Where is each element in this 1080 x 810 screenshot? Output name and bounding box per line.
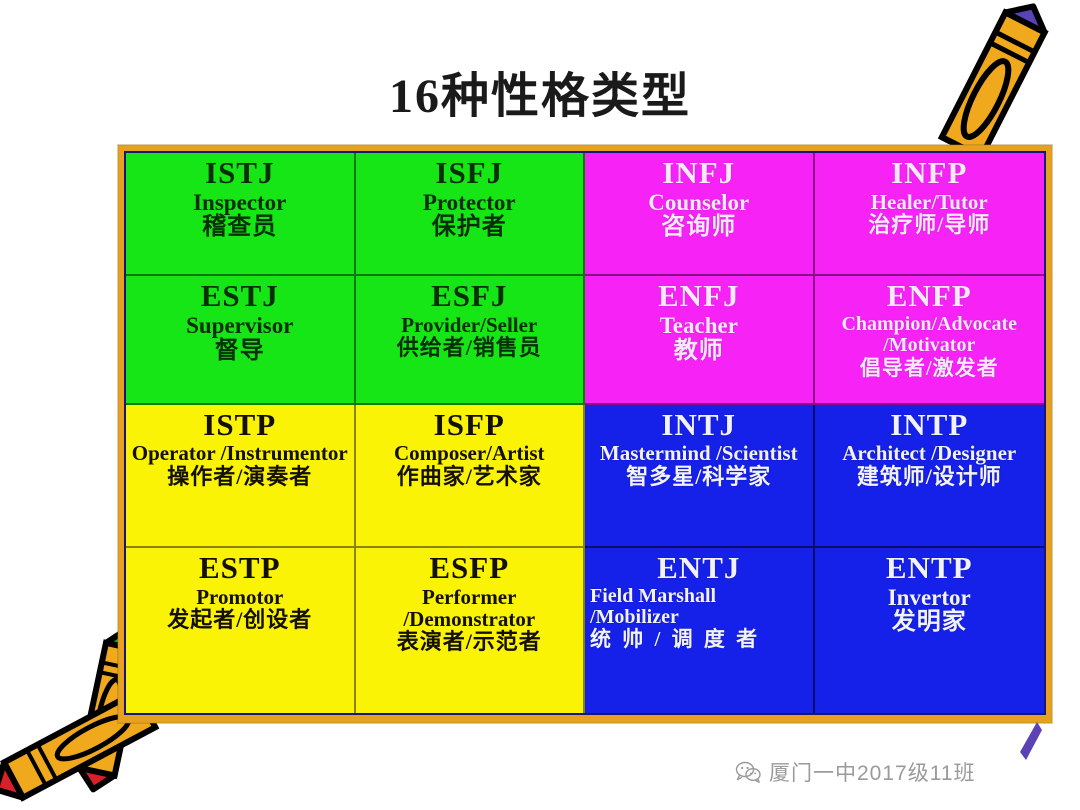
poster-canvas: 16种性格类型 xyxy=(0,0,1080,810)
type-name-en: Field Marshall /Mobilizer xyxy=(590,586,808,628)
type-code: ISFJ xyxy=(435,157,503,190)
type-name-en: Architect /Designer xyxy=(842,442,1016,464)
table-cell-istp[interactable]: ISTP Operator /Instrumentor 操作者/演奏者 xyxy=(126,405,356,548)
type-name-zh: 督导 xyxy=(215,339,265,364)
type-name-zh: 倡导者/激发者 xyxy=(860,357,999,379)
table-cell-estp[interactable]: ESTP Promotor 发起者/创设者 xyxy=(126,548,356,713)
personality-type-table-frame: ISTJ Inspector 稽查员 ISFJ Protector 保护者 IN… xyxy=(118,145,1052,723)
type-code: ENFP xyxy=(887,280,972,313)
type-code: ISTJ xyxy=(205,157,274,190)
type-code: INTJ xyxy=(661,409,736,442)
table-cell-esfj[interactable]: ESFJ Provider/Seller 供给者/销售员 xyxy=(356,276,586,404)
type-name-en: Champion/Advocate /Motivator xyxy=(820,314,1040,356)
type-name-zh: 智多星/科学家 xyxy=(626,465,771,488)
type-code: ENFJ xyxy=(658,280,740,313)
wechat-icon xyxy=(735,761,761,783)
type-code: ESFP xyxy=(429,552,509,585)
footer-text: 厦门一中2017级11班 xyxy=(769,757,976,787)
table-cell-isfp[interactable]: ISFP Composer/Artist 作曲家/艺术家 xyxy=(356,405,586,548)
type-code: ENTJ xyxy=(590,552,808,585)
table-cell-intj[interactable]: INTJ Mastermind /Scientist 智多星/科学家 xyxy=(585,405,815,548)
type-code: INFP xyxy=(891,157,967,190)
table-cell-entj[interactable]: ENTJ Field Marshall /Mobilizer 统 帅 / 调 度… xyxy=(585,548,815,713)
type-name-en: Mastermind /Scientist xyxy=(600,442,798,464)
table-cell-estj[interactable]: ESTJ Supervisor 督导 xyxy=(126,276,356,404)
type-name-en: Operator /Instrumentor xyxy=(132,442,348,464)
type-name-zh: 作曲家/艺术家 xyxy=(397,465,542,488)
type-name-zh: 咨询师 xyxy=(661,215,736,240)
footer-watermark: 厦门一中2017级11班 xyxy=(735,757,976,787)
table-cell-esfp[interactable]: ESFP Performer /Demonstrator 表演者/示范者 xyxy=(356,548,586,713)
table-cell-intp[interactable]: INTP Architect /Designer 建筑师/设计师 xyxy=(815,405,1045,548)
type-name-en: Protector xyxy=(423,191,516,215)
type-name-zh: 保护者 xyxy=(432,215,507,240)
type-name-en: Provider/Seller xyxy=(401,314,537,336)
personality-type-grid: ISTJ Inspector 稽查员 ISFJ Protector 保护者 IN… xyxy=(126,153,1044,713)
type-name-en: Performer /Demonstrator xyxy=(361,586,579,631)
type-code: ESTP xyxy=(199,552,281,585)
type-name-zh: 稽查员 xyxy=(202,215,277,240)
purple-ribbon-accent-icon xyxy=(1020,722,1042,762)
type-name-en: Teacher xyxy=(660,314,738,338)
table-cell-istj[interactable]: ISTJ Inspector 稽查员 xyxy=(126,153,356,276)
type-name-en: Supervisor xyxy=(186,314,293,338)
type-name-en: Healer/Tutor xyxy=(871,191,988,213)
type-code: ISTP xyxy=(203,409,276,442)
type-name-zh: 发起者/创设者 xyxy=(167,608,312,631)
type-code: ISFP xyxy=(434,409,505,442)
type-code: ESFJ xyxy=(431,280,507,313)
type-name-zh: 操作者/演奏者 xyxy=(167,465,312,488)
type-name-zh: 发明家 xyxy=(892,610,967,635)
type-name-zh: 统 帅 / 调 度 者 xyxy=(590,628,808,650)
type-name-en: Composer/Artist xyxy=(394,442,544,464)
type-name-en: Inspector xyxy=(193,191,286,215)
type-code: INFJ xyxy=(662,157,735,190)
table-cell-entp[interactable]: ENTP Invertor 发明家 xyxy=(815,548,1045,713)
type-name-zh: 治疗师/导师 xyxy=(868,213,990,236)
type-code: ENTP xyxy=(886,552,973,585)
table-cell-isfj[interactable]: ISFJ Protector 保护者 xyxy=(356,153,586,276)
type-name-en: Invertor xyxy=(888,586,971,610)
table-cell-enfj[interactable]: ENFJ Teacher 教师 xyxy=(585,276,815,404)
type-code: INTP xyxy=(890,409,968,442)
table-cell-infp[interactable]: INFP Healer/Tutor 治疗师/导师 xyxy=(815,153,1045,276)
table-cell-enfp[interactable]: ENFP Champion/Advocate /Motivator 倡导者/激发… xyxy=(815,276,1045,404)
type-name-zh: 表演者/示范者 xyxy=(397,630,542,653)
table-cell-infj[interactable]: INFJ Counselor 咨询师 xyxy=(585,153,815,276)
type-name-zh: 建筑师/设计师 xyxy=(857,465,1002,488)
type-name-en: Promotor xyxy=(196,586,283,608)
type-name-zh: 教师 xyxy=(674,339,724,364)
type-code: ESTJ xyxy=(201,280,279,313)
type-name-zh: 供给者/销售员 xyxy=(397,336,542,359)
type-name-en: Counselor xyxy=(648,191,749,215)
